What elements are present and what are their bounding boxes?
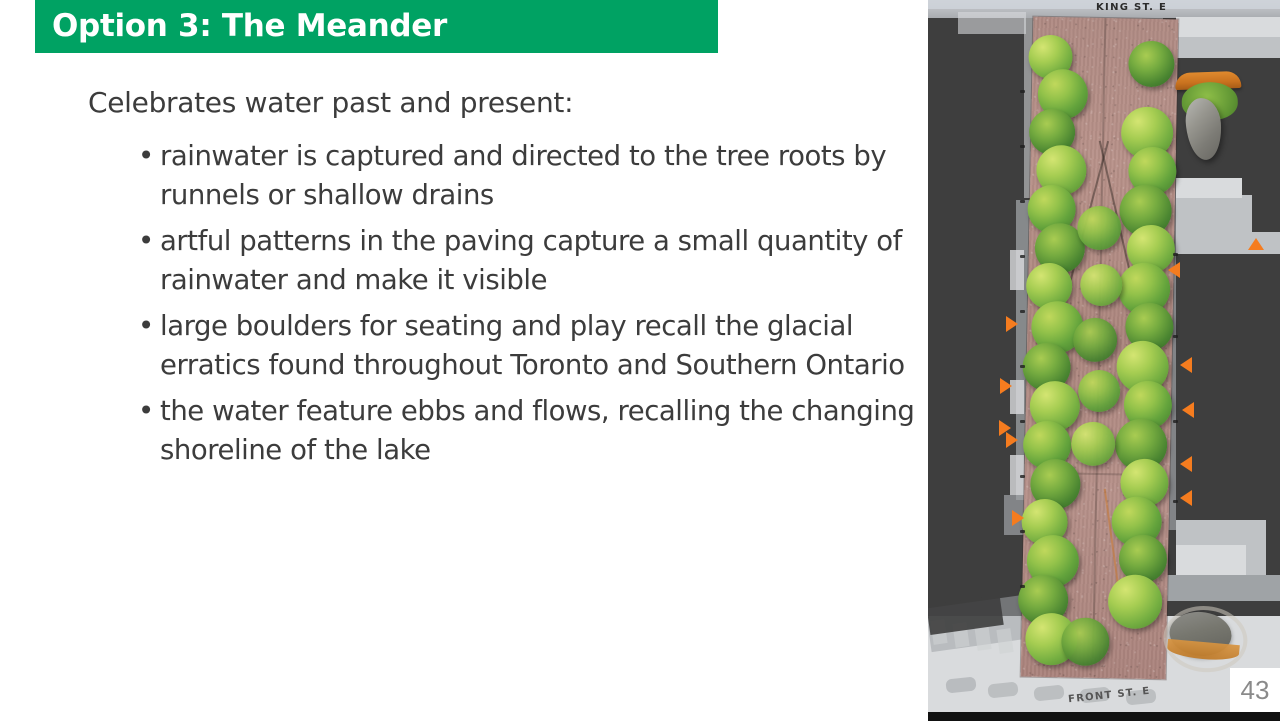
marker-arrow-west bbox=[1000, 378, 1012, 394]
marker-arrow-east bbox=[1168, 262, 1180, 278]
marker-arrow-east bbox=[1182, 402, 1194, 418]
aerial-rendering-image: KING ST. E FRONT ST. E 43 bbox=[928, 0, 1280, 721]
slide-root: Option 3: The Meander Celebrates water p… bbox=[0, 0, 1280, 721]
curb-marker bbox=[1020, 420, 1025, 423]
rooftop-e-b bbox=[1176, 178, 1242, 198]
curb-marker bbox=[1020, 585, 1025, 588]
curb-marker bbox=[1020, 145, 1025, 148]
list-item-text: the water feature ebbs and flows, recall… bbox=[160, 395, 914, 466]
list-item-text: large boulders for seating and play reca… bbox=[160, 310, 905, 381]
page-number: 43 bbox=[1230, 668, 1280, 712]
marker-arrow-east bbox=[1180, 490, 1192, 506]
rooftop-e-a bbox=[1176, 195, 1252, 235]
bullet-marker-icon: • bbox=[138, 222, 154, 261]
marker-arrow-east bbox=[1180, 456, 1192, 472]
rooftop-e-c bbox=[1176, 232, 1280, 254]
marker-arrow-west bbox=[1006, 432, 1018, 448]
street-label-king: KING ST. E bbox=[1096, 2, 1167, 13]
curb-marker bbox=[1173, 420, 1178, 423]
lead-in-text: Celebrates water past and present: bbox=[88, 86, 573, 119]
rooftop-ne-b bbox=[1176, 17, 1280, 37]
slide-title-bar: Option 3: The Meander bbox=[35, 0, 718, 53]
curb-marker bbox=[1020, 475, 1025, 478]
plaza-paving bbox=[1021, 17, 1179, 680]
list-item: • rainwater is captured and directed to … bbox=[138, 137, 928, 214]
slide-body: Celebrates water past and present: • rai… bbox=[0, 53, 928, 721]
curb-marker bbox=[1020, 255, 1025, 258]
marker-arrow-east bbox=[1180, 357, 1192, 373]
list-item-text: artful patterns in the paving capture a … bbox=[160, 225, 902, 296]
curb-marker bbox=[1020, 530, 1025, 533]
rooftop-se-c bbox=[1166, 575, 1280, 601]
curb-marker bbox=[1173, 253, 1178, 256]
curb-marker bbox=[1173, 335, 1178, 338]
marker-arrow-northeast bbox=[1248, 238, 1264, 250]
bullet-marker-icon: • bbox=[138, 137, 154, 176]
curb-marker bbox=[1020, 200, 1025, 203]
curb-marker bbox=[1173, 500, 1178, 503]
bullet-list: • rainwater is captured and directed to … bbox=[138, 137, 928, 477]
list-item: • the water feature ebbs and flows, reca… bbox=[138, 392, 928, 469]
rooftop-nw bbox=[958, 12, 1026, 34]
list-item: • large boulders for seating and play re… bbox=[138, 307, 928, 384]
image-bottom-edge bbox=[928, 712, 1280, 721]
bullet-marker-icon: • bbox=[138, 307, 154, 346]
sidewalk-west-notch-b bbox=[1010, 380, 1024, 414]
bullet-marker-icon: • bbox=[138, 392, 154, 431]
marker-arrow-west bbox=[1006, 316, 1018, 332]
curb-marker bbox=[1020, 365, 1025, 368]
curb-marker bbox=[1020, 90, 1025, 93]
list-item-text: rainwater is captured and directed to th… bbox=[160, 140, 886, 211]
marker-arrow-west bbox=[1012, 510, 1024, 526]
curb-marker bbox=[1020, 310, 1025, 313]
rooftop-ne-a bbox=[1176, 36, 1280, 58]
page-title: Option 3: The Meander bbox=[35, 11, 447, 42]
list-item: • artful patterns in the paving capture … bbox=[138, 222, 928, 299]
